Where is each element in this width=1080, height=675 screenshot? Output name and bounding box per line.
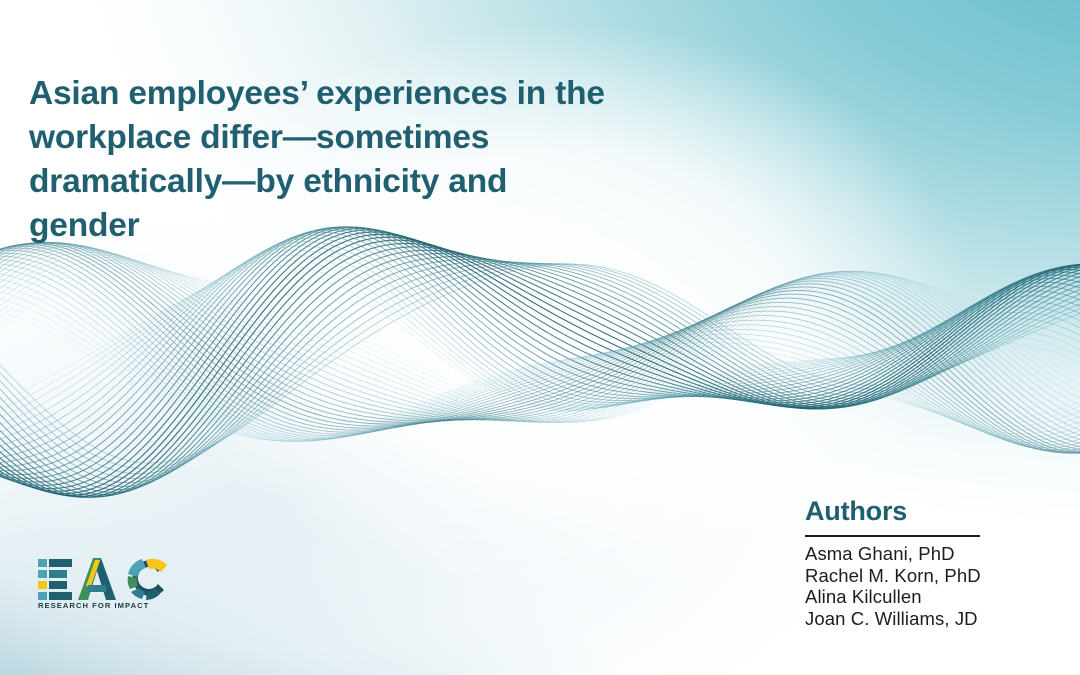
eac-logo: RESEARCH FOR IMPACT [38, 556, 170, 618]
author-name: Asma Ghani, PhD [805, 543, 1055, 565]
authors-block: Authors Asma Ghani, PhD Rachel M. Korn, … [805, 496, 1055, 629]
authors-heading: Authors [805, 496, 1055, 526]
authors-divider [805, 535, 980, 537]
eac-logo-mark-icon [38, 556, 170, 600]
logo-tagline: RESEARCH FOR IMPACT [38, 601, 170, 611]
author-name: Joan C. Williams, JD [805, 608, 1055, 630]
page-title: Asian employees’ experiences in the work… [29, 72, 669, 248]
slide-canvas: Asian employees’ experiences in the work… [0, 0, 1080, 675]
author-name: Alina Kilcullen [805, 586, 1055, 608]
author-name: Rachel M. Korn, PhD [805, 565, 1055, 587]
